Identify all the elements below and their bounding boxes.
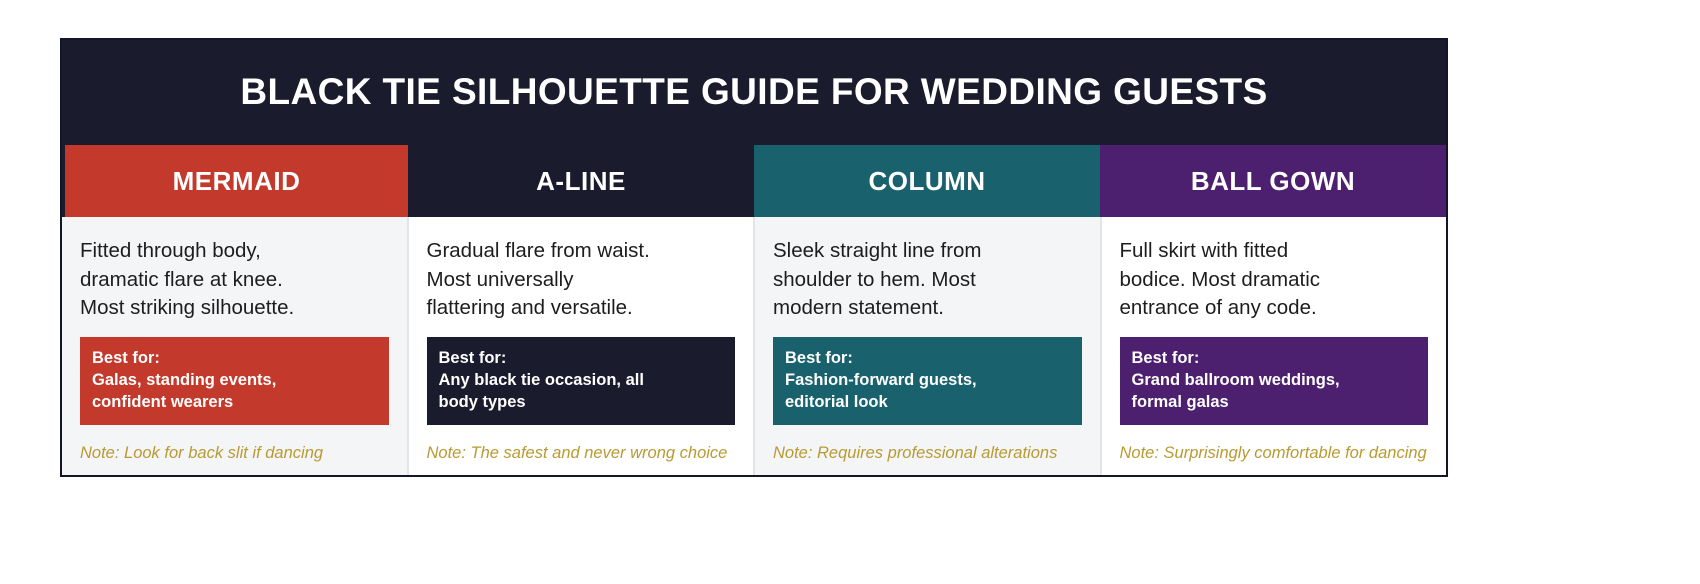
silhouette-body-row: Fitted through body, dramatic flare at k… — [62, 217, 1446, 475]
note-column: Note: Requires professional alterations — [773, 442, 1082, 464]
header-chip-aline: A-LINE — [408, 145, 754, 217]
header-chip-mermaid: MERMAID — [65, 145, 408, 217]
best-for-box-mermaid: Best for: Galas, standing events, confid… — [80, 337, 389, 425]
best-for-value-ballgown: Grand ballroom weddings, formal galas — [1132, 369, 1417, 413]
best-for-box-column: Best for: Fashion-forward guests, editor… — [773, 337, 1082, 425]
header-cell-column: COLUMN — [754, 145, 1100, 217]
best-for-box-ballgown: Best for: Grand ballroom weddings, forma… — [1120, 337, 1429, 425]
header-cell-ballgown: BALL GOWN — [1100, 145, 1446, 217]
header-chip-column: COLUMN — [754, 145, 1100, 217]
note-ballgown: Note: Surprisingly comfortable for danci… — [1120, 442, 1429, 464]
description-mermaid: Fitted through body, dramatic flare at k… — [80, 237, 389, 323]
silhouette-column-mermaid: Fitted through body, dramatic flare at k… — [62, 217, 407, 475]
page-title: BLACK TIE SILHOUETTE GUIDE FOR WEDDING G… — [240, 73, 1267, 112]
header-label-column: COLUMN — [868, 166, 985, 197]
best-for-label-column: Best for: — [785, 347, 1070, 369]
header-label-aline: A-LINE — [536, 166, 626, 197]
best-for-label-ballgown: Best for: — [1132, 347, 1417, 369]
note-mermaid: Note: Look for back slit if dancing — [80, 442, 389, 464]
best-for-value-mermaid: Galas, standing events, confident wearer… — [92, 369, 377, 413]
best-for-value-aline: Any black tie occasion, all body types — [439, 369, 724, 413]
silhouette-header-row: MERMAID A-LINE COLUMN BALL GOWN — [62, 145, 1446, 217]
silhouette-column-aline: Gradual flare from waist. Most universal… — [407, 217, 754, 475]
title-banner: BLACK TIE SILHOUETTE GUIDE FOR WEDDING G… — [62, 40, 1446, 145]
best-for-box-aline: Best for: Any black tie occasion, all bo… — [427, 337, 736, 425]
header-cell-aline: A-LINE — [408, 145, 754, 217]
best-for-value-column: Fashion-forward guests, editorial look — [785, 369, 1070, 413]
description-aline: Gradual flare from waist. Most universal… — [427, 237, 736, 323]
description-ballgown: Full skirt with fitted bodice. Most dram… — [1120, 237, 1429, 323]
silhouette-column-column: Sleek straight line from shoulder to hem… — [753, 217, 1100, 475]
best-for-label-mermaid: Best for: — [92, 347, 377, 369]
silhouette-column-ballgown: Full skirt with fitted bodice. Most dram… — [1100, 217, 1447, 475]
note-aline: Note: The safest and never wrong choice — [427, 442, 736, 464]
header-chip-ballgown: BALL GOWN — [1100, 145, 1446, 217]
page-canvas: BLACK TIE SILHOUETTE GUIDE FOR WEDDING G… — [0, 0, 1700, 584]
header-label-mermaid: MERMAID — [173, 166, 301, 197]
header-cell-mermaid: MERMAID — [62, 145, 408, 217]
best-for-label-aline: Best for: — [439, 347, 724, 369]
description-column: Sleek straight line from shoulder to hem… — [773, 237, 1082, 323]
black-tie-silhouette-guide-card: BLACK TIE SILHOUETTE GUIDE FOR WEDDING G… — [60, 38, 1448, 477]
header-label-ballgown: BALL GOWN — [1191, 166, 1355, 197]
